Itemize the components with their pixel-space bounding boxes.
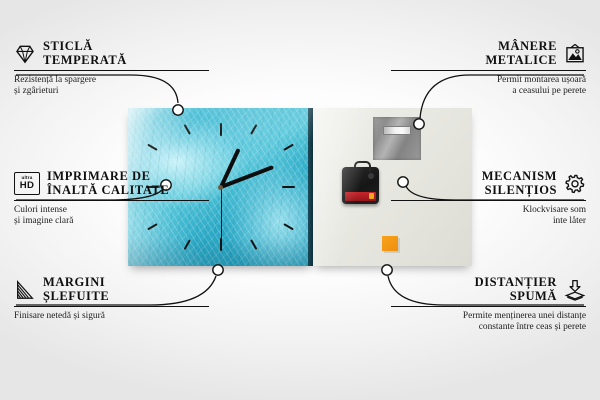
- ultra-hd-icon-main: HD: [20, 181, 34, 191]
- feature-subtitle-line2: și zgârieturi: [14, 86, 209, 97]
- feature-tempered-glass: STICLĂ TEMPERATĂ Rezistență la spargere …: [14, 40, 209, 98]
- feature-title: MÂNERE METALICE: [485, 40, 557, 67]
- feature-title: MECANISM SILENȚIOS: [482, 170, 557, 197]
- endpoint-edges: [213, 265, 223, 275]
- feature-divider: [14, 70, 209, 71]
- metal-hanger-plate: [373, 117, 421, 160]
- spacer-arrow-icon: [564, 279, 586, 301]
- feature-divider: [391, 200, 586, 201]
- feature-high-quality-print: ultra HD IMPRIMARE DE ÎNALTĂ CALITATE Cu…: [14, 170, 209, 228]
- polished-edge-icon: [14, 279, 36, 301]
- feature-subtitle-line1: Klockvisare som: [391, 205, 586, 216]
- feature-subtitle-line2: și imagine clară: [14, 216, 209, 227]
- feature-foam-spacer: DISTANȚIER SPUMĂ Permite menținerea unei…: [391, 276, 586, 334]
- feature-heading: DISTANȚIER SPUMĂ: [391, 276, 586, 303]
- feature-heading: STICLĂ TEMPERATĂ: [14, 40, 209, 67]
- diamond-icon: [14, 43, 36, 65]
- feature-divider: [391, 70, 586, 71]
- feature-heading: MÂNERE METALICE: [391, 40, 586, 67]
- mechanism-battery: [345, 192, 376, 201]
- feature-subtitle-line2: a ceasului pe perete: [391, 86, 586, 97]
- feature-subtitle-line2: inte låter: [391, 216, 586, 227]
- feature-divider: [14, 306, 209, 307]
- feature-polished-edges: MARGINI ȘLEFUITE Finisare netedă și sigu…: [14, 276, 209, 322]
- mechanism-dial-knob: [368, 173, 374, 179]
- ultra-hd-icon: ultra HD: [14, 172, 40, 195]
- feature-subtitle-line1: Rezistență la spargere: [14, 75, 209, 86]
- feature-divider: [14, 200, 209, 201]
- mechanism-hanging-loop: [354, 161, 371, 172]
- foam-spacer-pad: [382, 236, 398, 251]
- feature-heading: ultra HD IMPRIMARE DE ÎNALTĂ CALITATE: [14, 170, 209, 197]
- feature-title: DISTANȚIER SPUMĂ: [475, 276, 557, 303]
- endpoint-foam: [382, 265, 392, 275]
- feature-silent-mechanism: MECANISM SILENȚIOS Klockvisare som inte …: [391, 170, 586, 228]
- feature-title: IMPRIMARE DE ÎNALTĂ CALITATE: [47, 170, 169, 197]
- feature-subtitle-line2: constante între ceas și perete: [391, 322, 586, 333]
- feature-subtitle-line1: Finisare netedă și sigură: [14, 311, 209, 322]
- hanger-slot: [383, 126, 411, 135]
- feature-metal-hangers: MÂNERE METALICE Permit montarea ușoară a…: [391, 40, 586, 98]
- feature-heading: MARGINI ȘLEFUITE: [14, 276, 209, 303]
- feature-divider: [391, 306, 586, 307]
- feature-heading: MECANISM SILENȚIOS: [391, 170, 586, 197]
- feature-subtitle-line1: Culori intense: [14, 205, 209, 216]
- feature-subtitle-line1: Permit montarea ușoară: [391, 75, 586, 86]
- feature-title: STICLĂ TEMPERATĂ: [43, 40, 127, 67]
- clock-center-cap: [218, 185, 223, 190]
- feature-title: MARGINI ȘLEFUITE: [43, 276, 109, 303]
- clock-mechanism: [342, 167, 379, 204]
- feature-subtitle-line1: Permite menținerea unei distanțe: [391, 311, 586, 322]
- infographic-stage: STICLĂ TEMPERATĂ Rezistență la spargere …: [0, 0, 600, 400]
- gear-icon: [564, 173, 586, 195]
- picture-frame-hanger-icon: [564, 43, 586, 65]
